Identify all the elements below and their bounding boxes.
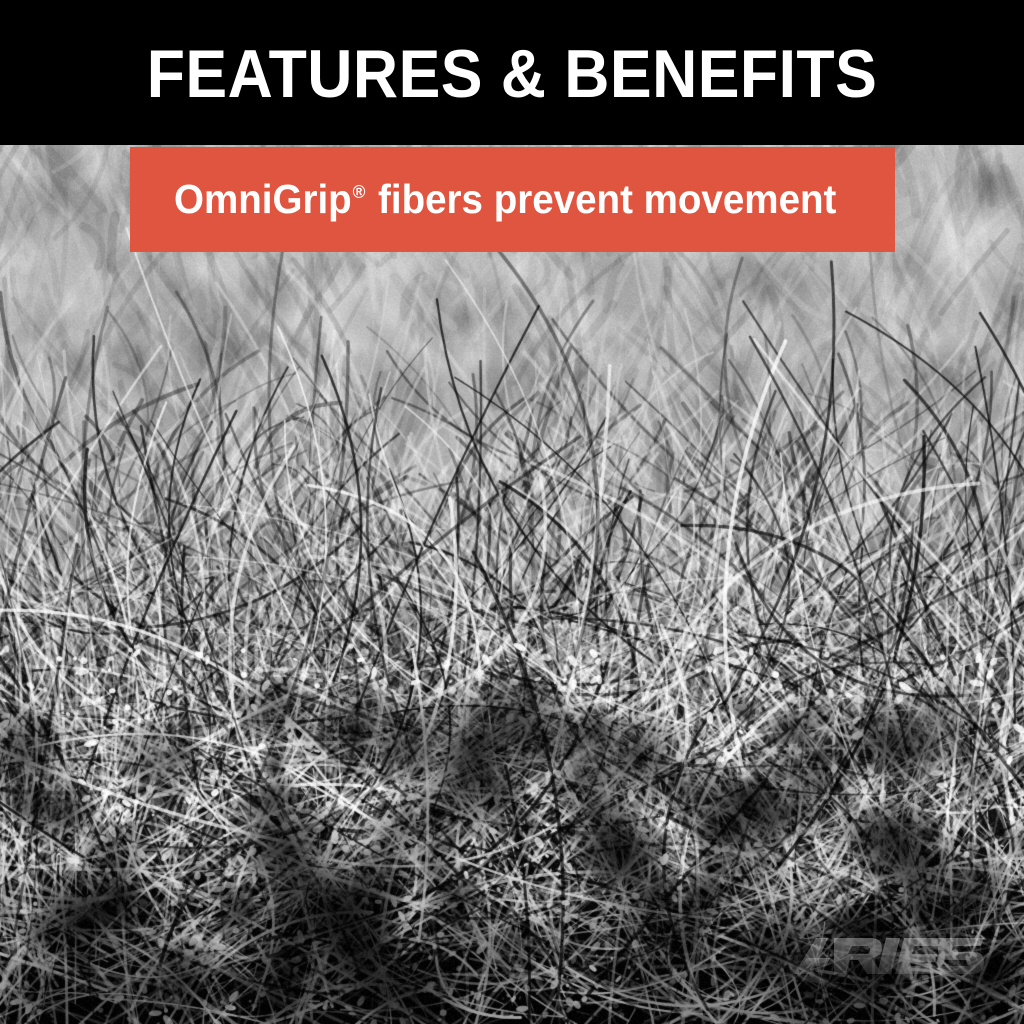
fiber-macro-photo bbox=[0, 145, 1024, 1024]
registered-trademark-icon: ® bbox=[353, 181, 366, 202]
product-feature-poster: OmniGrip® fibers prevent movement FEATUR… bbox=[0, 0, 1024, 1024]
header-bar: FEATURES & BENEFITS bbox=[0, 0, 1024, 145]
feature-callout-banner: OmniGrip® fibers prevent movement bbox=[130, 147, 895, 252]
feature-callout-text: OmniGrip® fibers prevent movement bbox=[174, 179, 836, 220]
page-title: FEATURES & BENEFITS bbox=[147, 40, 878, 108]
banner-description: fibers prevent movement bbox=[367, 176, 836, 222]
banner-product-name: OmniGrip bbox=[174, 176, 352, 222]
fiber-texture-canvas bbox=[0, 145, 1024, 1024]
